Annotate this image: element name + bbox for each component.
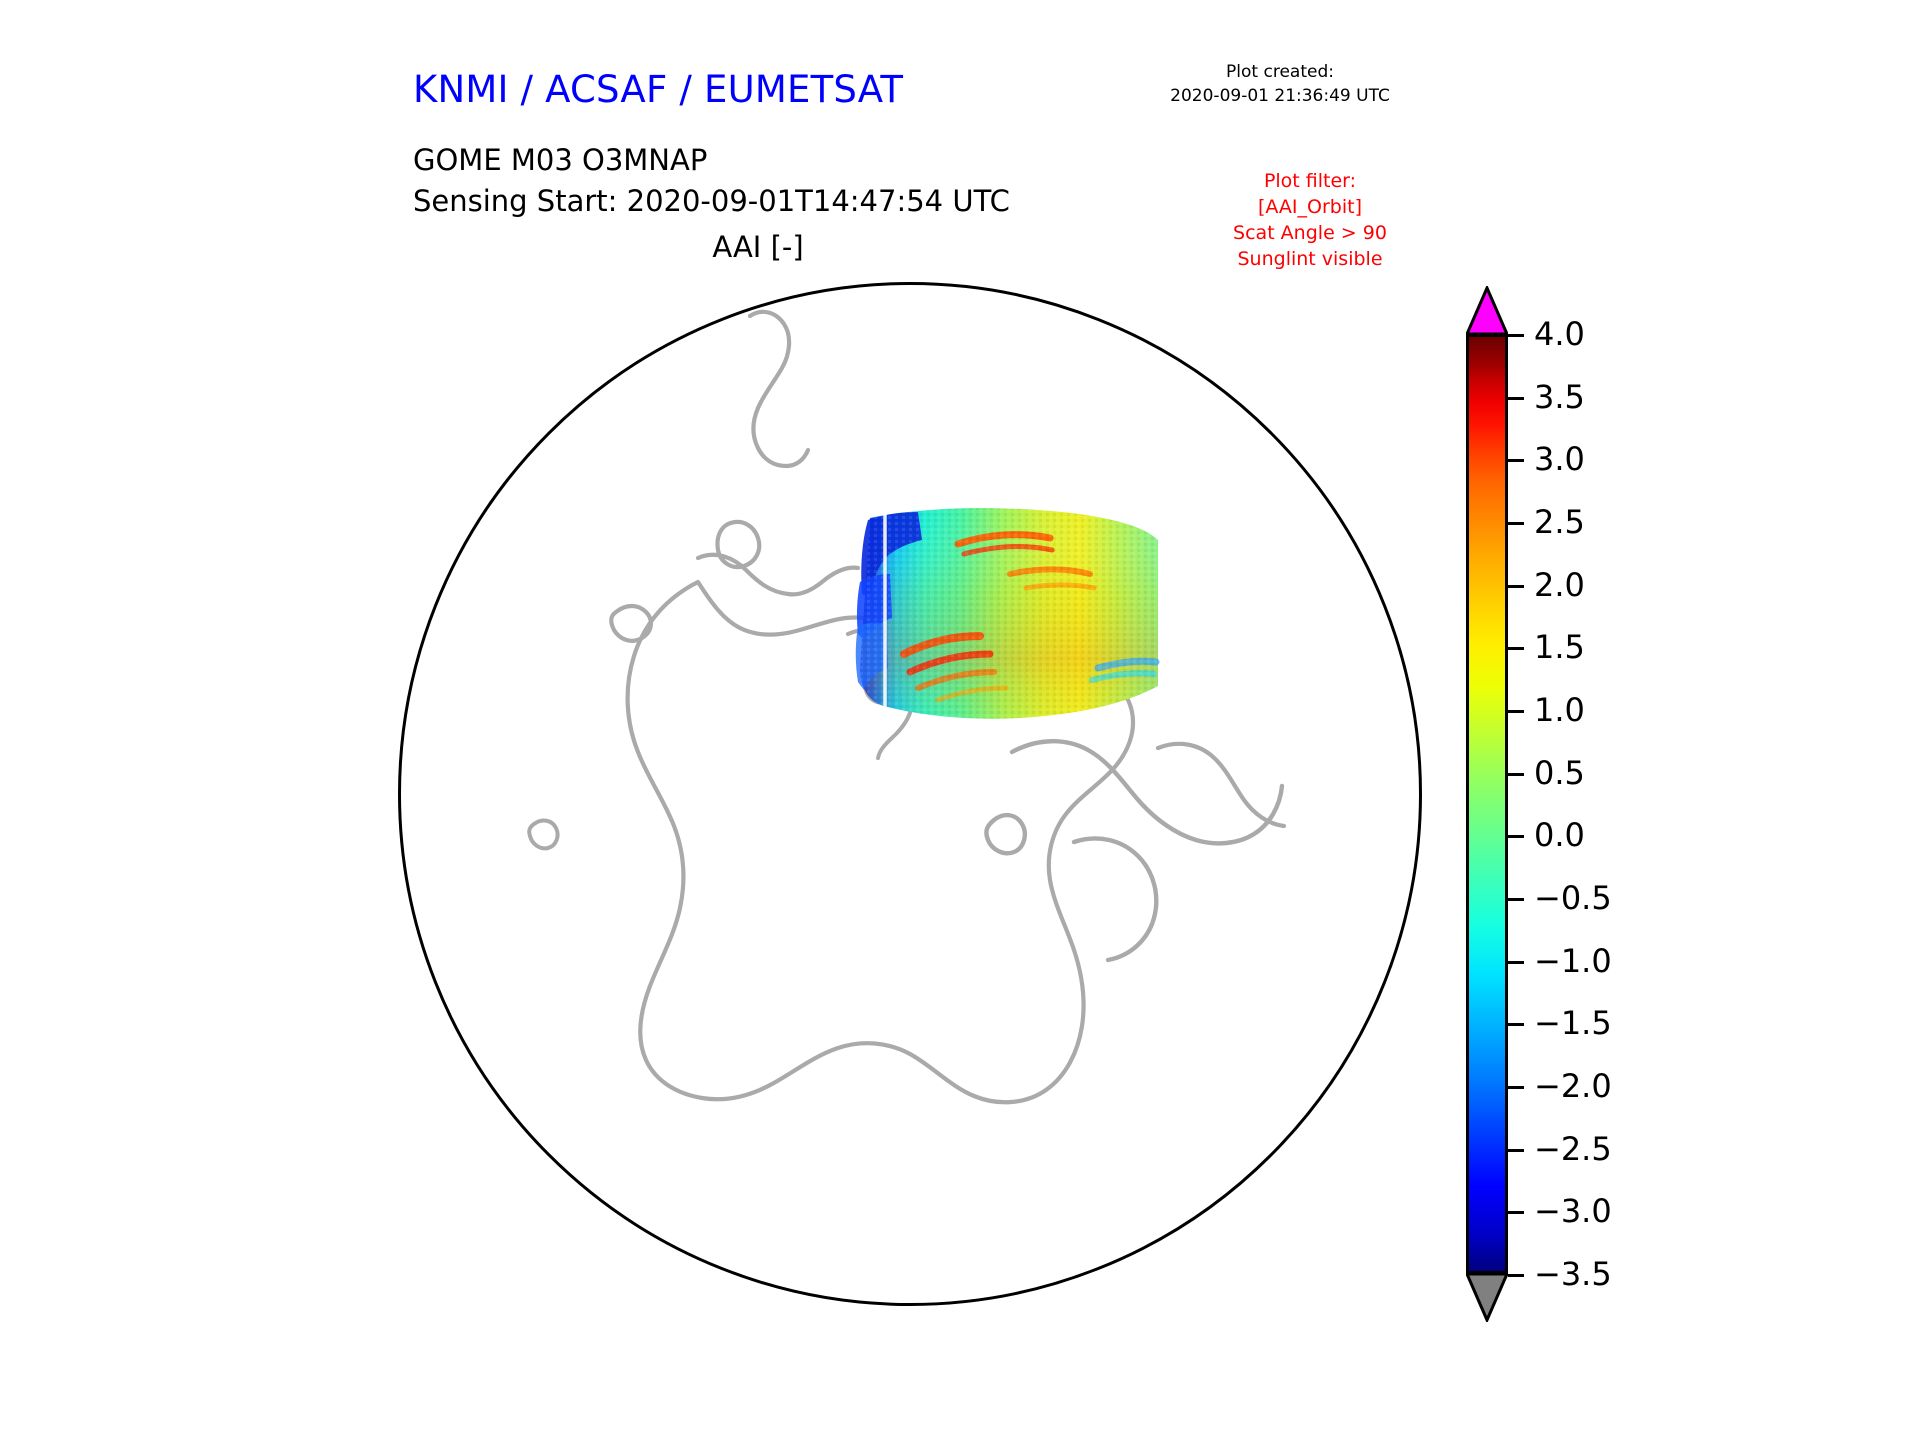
coastline-newzealand [1158, 744, 1284, 826]
colorbar-tick-label: 0.5 [1534, 754, 1585, 792]
colorbar-tick-label: 3.5 [1534, 378, 1585, 416]
colorbar-over-arrow [1466, 286, 1508, 336]
colorbar-tick-mark [1508, 459, 1524, 462]
plot-filter-orbit: [AAI_Orbit] [1160, 194, 1460, 220]
colorbar-tick-mark [1508, 961, 1524, 964]
colorbar-tick-label: 1.0 [1534, 691, 1585, 729]
colorbar-tick-label: 2.0 [1534, 566, 1585, 604]
colorbar-tick-mark [1508, 397, 1524, 400]
plot-created-block: Plot created: 2020-09-01 21:36:49 UTC [1130, 60, 1430, 108]
colorbar-tick-label: −2.5 [1534, 1130, 1612, 1168]
colorbar-tick-label: −2.0 [1534, 1067, 1612, 1105]
plot-filter-label: Plot filter: [1160, 168, 1460, 194]
colorbar-tick-label: 2.5 [1534, 503, 1585, 541]
colorbar-tick-mark [1508, 647, 1524, 650]
colorbar-tick-label: 4.0 [1534, 315, 1585, 353]
colorbar-tick-mark [1508, 773, 1524, 776]
colorbar-tick-label: 0.0 [1534, 816, 1585, 854]
colorbar-tick-mark [1508, 710, 1524, 713]
colorbar-tick-label: −3.0 [1534, 1192, 1612, 1230]
colorbar-tick-mark [1508, 334, 1524, 337]
colorbar-under-arrow [1466, 1272, 1508, 1322]
colorbar-tick-mark [1508, 1086, 1524, 1089]
colorbar-tick-mark [1508, 898, 1524, 901]
coastline-australia [986, 741, 1282, 960]
colorbar-tick-mark [1508, 522, 1524, 525]
instrument-product-line: GOME M03 O3MNAP [413, 140, 1010, 181]
colorbar-tick-label: −1.5 [1534, 1004, 1612, 1042]
coastline-antarctica [611, 312, 858, 641]
map-panel [398, 282, 1428, 1312]
plot-created-label: Plot created: [1130, 60, 1430, 84]
colorbar-tick-label: −0.5 [1534, 879, 1612, 917]
colorbar-tick-mark [1508, 585, 1524, 588]
organization-title: KNMI / ACSAF / EUMETSAT [413, 68, 903, 111]
plot-filter-scat-angle: Scat Angle > 90 [1160, 220, 1460, 246]
colorbar-tick-mark [1508, 835, 1524, 838]
colorbar-tick-label: 3.0 [1534, 440, 1585, 478]
map-svg [398, 282, 1428, 1312]
swath-pixel-texture [860, 508, 1158, 719]
colorbar-tick-mark [1508, 1149, 1524, 1152]
colorbar-tick-label: −1.0 [1534, 942, 1612, 980]
colorbar-tick-mark [1508, 1274, 1524, 1277]
plot-filter-sunglint: Sunglint visible [1160, 246, 1460, 272]
colorbar-tick-label: 1.5 [1534, 628, 1585, 666]
colorbar-tick-mark [1508, 1023, 1524, 1026]
colorbar-panel: 4.03.53.02.52.01.51.00.50.0−0.5−1.0−1.5−… [1452, 286, 1782, 1316]
colorbar-tick-mark [1508, 1211, 1524, 1214]
colorbar-gradient [1466, 334, 1508, 1274]
plot-created-timestamp: 2020-09-01 21:36:49 UTC [1130, 84, 1430, 108]
colorbar-tick-label: −3.5 [1534, 1255, 1612, 1293]
data-swath [856, 508, 1164, 719]
sensing-start-line: Sensing Start: 2020-09-01T14:47:54 UTC [413, 181, 1010, 222]
coastline-islands [529, 689, 912, 849]
dataset-info-block: GOME M03 O3MNAP Sensing Start: 2020-09-0… [413, 140, 1010, 222]
product-title: AAI [-] [413, 230, 1103, 264]
plot-filter-block: Plot filter: [AAI_Orbit] Scat Angle > 90… [1160, 168, 1460, 272]
